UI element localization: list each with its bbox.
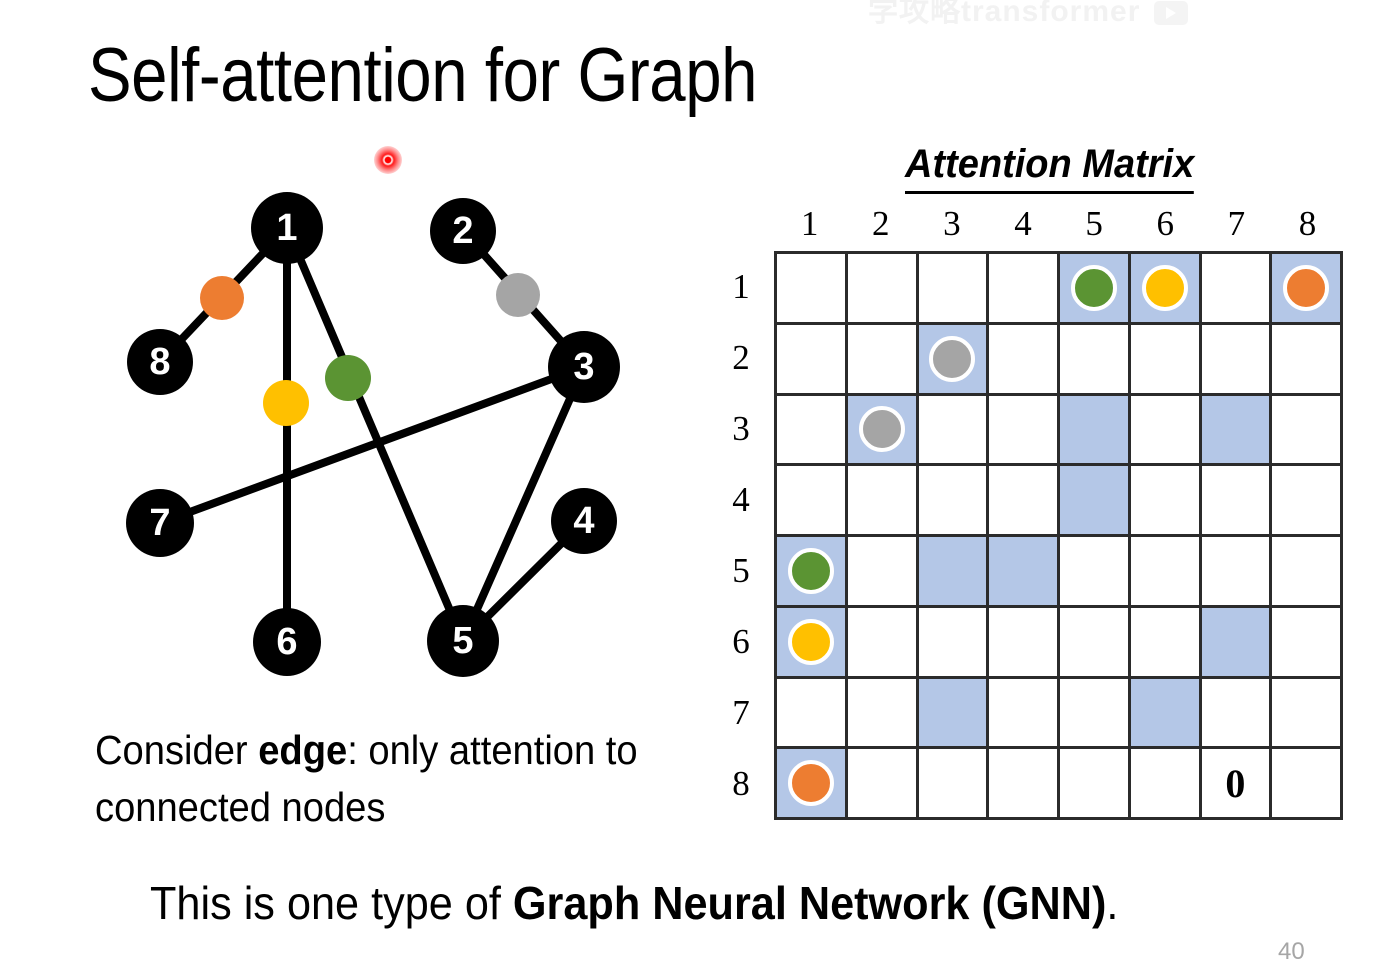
matrix-cell-r3c5[interactable] (1060, 396, 1131, 467)
matrix-col-header-7: 7 (1201, 203, 1272, 245)
page-number: 40 (1278, 938, 1305, 966)
matrix-cell-r2c2[interactable] (848, 325, 919, 396)
bottom-prefix: This is one type of (150, 877, 513, 929)
matrix-cell-r7c8[interactable] (1272, 679, 1343, 750)
graph-node-label-8: 8 (149, 341, 170, 383)
matrix-cell-r1c4[interactable] (989, 254, 1060, 325)
matrix-dot-orange-icon (1283, 265, 1329, 311)
matrix-row-header-7: 7 (718, 678, 764, 749)
matrix-cell-r3c4[interactable] (989, 396, 1060, 467)
matrix-col-header-4: 4 (987, 203, 1058, 245)
matrix-cell-r3c1[interactable] (777, 396, 848, 467)
matrix-cell-r7c6[interactable] (1131, 679, 1202, 750)
matrix-cell-r8c7[interactable]: 0 (1202, 749, 1273, 820)
graph-node-label-4: 4 (573, 500, 594, 542)
matrix-cell-r3c7[interactable] (1202, 396, 1273, 467)
matrix-cell-r3c8[interactable] (1272, 396, 1343, 467)
caption-bold: edge (258, 727, 347, 773)
matrix-dot-gray-icon (929, 336, 975, 382)
matrix-dot-green-icon (1071, 265, 1117, 311)
matrix-row-header-5: 5 (718, 536, 764, 607)
matrix-column-headers: 12345678 (774, 203, 1343, 245)
bottom-suffix: . (1106, 877, 1118, 929)
matrix-cell-r4c4[interactable] (989, 466, 1060, 537)
matrix-cell-r5c1[interactable] (777, 537, 848, 608)
matrix-cell-r7c3[interactable] (919, 679, 990, 750)
graph-edge-3-7 (160, 367, 584, 523)
matrix-cell-r4c1[interactable] (777, 466, 848, 537)
matrix-cell-r5c7[interactable] (1202, 537, 1273, 608)
matrix-cell-r4c6[interactable] (1131, 466, 1202, 537)
matrix-cell-r5c4[interactable] (989, 537, 1060, 608)
matrix-cell-r8c1[interactable] (777, 749, 848, 820)
matrix-cell-r5c5[interactable] (1060, 537, 1131, 608)
matrix-row-header-2: 2 (718, 322, 764, 393)
matrix-col-header-1: 1 (774, 203, 845, 245)
matrix-cell-r1c2[interactable] (848, 254, 919, 325)
matrix-cell-r7c5[interactable] (1060, 679, 1131, 750)
matrix-cell-r6c7[interactable] (1202, 608, 1273, 679)
matrix-cell-r7c4[interactable] (989, 679, 1060, 750)
graph-node-label-3: 3 (573, 346, 594, 388)
slide-canvas: 学攻略transformer Self-attention for Graph … (0, 0, 1375, 971)
matrix-cell-r8c5[interactable] (1060, 749, 1131, 820)
matrix-cell-r2c4[interactable] (989, 325, 1060, 396)
matrix-cell-r1c3[interactable] (919, 254, 990, 325)
matrix-cell-r2c6[interactable] (1131, 325, 1202, 396)
matrix-col-header-8: 8 (1272, 203, 1343, 245)
graph-caption: Consider edge: only attention to connect… (95, 722, 672, 835)
matrix-cell-r4c5[interactable] (1060, 466, 1131, 537)
matrix-cell-r4c3[interactable] (919, 466, 990, 537)
matrix-cell-r8c4[interactable] (989, 749, 1060, 820)
matrix-cell-r2c5[interactable] (1060, 325, 1131, 396)
graph-edge-1-5 (287, 228, 463, 641)
matrix-row-headers: 12345678 (718, 251, 764, 820)
matrix-row-header-8: 8 (718, 749, 764, 820)
matrix-cell-r4c7[interactable] (1202, 466, 1273, 537)
matrix-dot-gray-icon (859, 406, 905, 452)
matrix-row-header-4: 4 (718, 464, 764, 535)
matrix-col-header-2: 2 (845, 203, 916, 245)
matrix-cell-r2c1[interactable] (777, 325, 848, 396)
graph-node-label-2: 2 (452, 210, 473, 252)
matrix-cell-r7c1[interactable] (777, 679, 848, 750)
matrix-col-header-6: 6 (1130, 203, 1201, 245)
matrix-cell-r1c8[interactable] (1272, 254, 1343, 325)
matrix-cell-r4c8[interactable] (1272, 466, 1343, 537)
matrix-cell-r1c5[interactable] (1060, 254, 1131, 325)
matrix-dot-yellow-icon (788, 619, 834, 665)
edge-marker-green (325, 355, 371, 401)
graph-node-label-5: 5 (452, 620, 473, 662)
watermark: 学攻略transformer (868, 0, 1328, 26)
matrix-cell-r6c6[interactable] (1131, 608, 1202, 679)
matrix-cell-r6c4[interactable] (989, 608, 1060, 679)
matrix-cell-r8c2[interactable] (848, 749, 919, 820)
matrix-dot-green-icon (788, 548, 834, 594)
graph-diagram: 12345678 (0, 0, 720, 720)
matrix-cell-r2c3[interactable] (919, 325, 990, 396)
matrix-dot-orange-icon (788, 760, 834, 806)
matrix-dot-yellow-icon (1142, 265, 1188, 311)
matrix-row-header-6: 6 (718, 607, 764, 678)
matrix-cell-r5c6[interactable] (1131, 537, 1202, 608)
edge-marker-orange (200, 276, 244, 320)
matrix-cell-r8c3[interactable] (919, 749, 990, 820)
matrix-cell-r5c8[interactable] (1272, 537, 1343, 608)
matrix-cell-r3c2[interactable] (848, 396, 919, 467)
matrix-cell-r6c3[interactable] (919, 608, 990, 679)
matrix-row-header-3: 3 (718, 393, 764, 464)
graph-node-label-1: 1 (276, 207, 297, 249)
laser-pointer-icon (374, 146, 402, 174)
attention-matrix-grid[interactable]: 0 (774, 251, 1343, 820)
matrix-cell-r1c1[interactable] (777, 254, 848, 325)
edge-marker-yellow (263, 380, 309, 426)
matrix-row-header-1: 1 (718, 251, 764, 322)
matrix-cell-r6c8[interactable] (1272, 608, 1343, 679)
matrix-cell-r7c7[interactable] (1202, 679, 1273, 750)
matrix-cell-r5c3[interactable] (919, 537, 990, 608)
matrix-cell-r3c6[interactable] (1131, 396, 1202, 467)
caption-prefix: Consider (95, 727, 258, 773)
matrix-cell-r2c8[interactable] (1272, 325, 1343, 396)
bottom-statement: This is one type of Graph Neural Network… (150, 876, 1118, 930)
bottom-bold: Graph Neural Network (GNN) (513, 877, 1106, 929)
matrix-cell-r5c2[interactable] (848, 537, 919, 608)
matrix-cell-r7c2[interactable] (848, 679, 919, 750)
graph-node-label-7: 7 (149, 502, 170, 544)
edge-marker-gray (496, 273, 540, 317)
matrix-zero-label: 0 (1225, 760, 1245, 807)
attention-matrix-title: Attention Matrix (905, 142, 1194, 194)
matrix-cell-r8c8[interactable] (1272, 749, 1343, 820)
watermark-text: 学攻略transformer (868, 0, 1140, 28)
matrix-cell-r8c6[interactable] (1131, 749, 1202, 820)
matrix-cell-r6c1[interactable] (777, 608, 848, 679)
matrix-cell-r1c6[interactable] (1131, 254, 1202, 325)
matrix-cell-r6c5[interactable] (1060, 608, 1131, 679)
graph-node-label-6: 6 (276, 621, 297, 663)
matrix-cell-r2c7[interactable] (1202, 325, 1273, 396)
matrix-cell-r3c3[interactable] (919, 396, 990, 467)
matrix-col-header-3: 3 (916, 203, 987, 245)
play-icon (1154, 1, 1188, 25)
graph-svg: 12345678 (0, 0, 720, 720)
matrix-cell-r1c7[interactable] (1202, 254, 1273, 325)
matrix-cell-r6c2[interactable] (848, 608, 919, 679)
matrix-col-header-5: 5 (1059, 203, 1130, 245)
matrix-cell-r4c2[interactable] (848, 466, 919, 537)
